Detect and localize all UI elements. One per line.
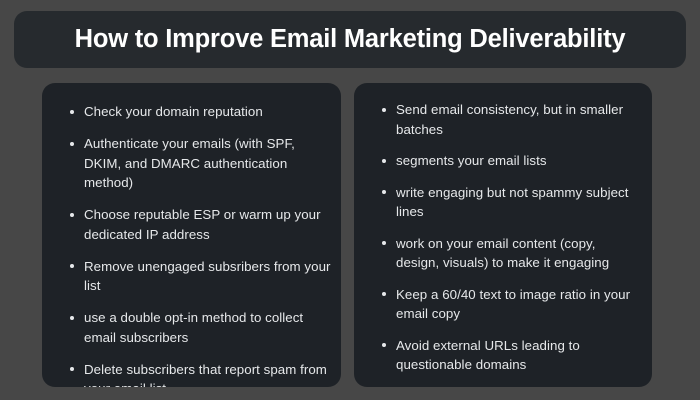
list-item-label: Remove unengaged subsribers from your li… xyxy=(84,259,331,294)
right-tips-list: Send email consistency, but in smaller b… xyxy=(382,100,642,387)
list-item-label: Authenticate your emails (with SPF, DKIM… xyxy=(84,136,295,190)
bullet-icon xyxy=(70,213,74,217)
list-item: segments your email lists xyxy=(382,151,642,171)
list-item: work on your email content (copy, design… xyxy=(382,234,642,273)
list-item-label: Send email consistency, but in smaller b… xyxy=(396,102,623,137)
bullet-icon xyxy=(70,316,74,320)
list-item-label: write engaging but not spammy subject li… xyxy=(396,185,628,220)
bullet-icon xyxy=(70,142,74,146)
bullet-icon xyxy=(70,264,74,268)
bullet-icon xyxy=(382,159,386,163)
bullet-icon xyxy=(382,292,386,296)
list-item: Delete subscribers that report spam from… xyxy=(70,360,331,388)
infographic-root: How to Improve Email Marketing Deliverab… xyxy=(0,0,700,400)
bullet-icon xyxy=(382,108,386,112)
list-item: Follow email compliance laws xyxy=(382,387,642,388)
list-item: Check your domain reputation xyxy=(70,102,331,122)
list-item-label: segments your email lists xyxy=(396,153,547,168)
bullet-icon xyxy=(382,343,386,347)
page-title: How to Improve Email Marketing Deliverab… xyxy=(75,25,626,53)
list-item-label: Choose reputable ESP or warm up your ded… xyxy=(84,207,321,242)
right-tips-card: Send email consistency, but in smaller b… xyxy=(354,83,652,387)
list-item-label: work on your email content (copy, design… xyxy=(396,236,609,271)
left-tips-card: Check your domain reputation Authenticat… xyxy=(42,83,341,387)
list-item: Remove unengaged subsribers from your li… xyxy=(70,257,331,296)
bullet-icon xyxy=(70,367,74,371)
list-item-label: Check your domain reputation xyxy=(84,104,263,119)
title-banner: How to Improve Email Marketing Deliverab… xyxy=(14,11,686,68)
list-item: Send email consistency, but in smaller b… xyxy=(382,100,642,139)
list-item: write engaging but not spammy subject li… xyxy=(382,183,642,222)
list-item-label: Delete subscribers that report spam from… xyxy=(84,362,327,388)
list-item: Authenticate your emails (with SPF, DKIM… xyxy=(70,134,331,193)
bullet-icon xyxy=(382,190,386,194)
list-item-label: use a double opt-in method to collect em… xyxy=(84,310,303,345)
columns-container: Check your domain reputation Authenticat… xyxy=(0,83,700,387)
list-item: use a double opt-in method to collect em… xyxy=(70,308,331,347)
list-item: Keep a 60/40 text to image ratio in your… xyxy=(382,285,642,324)
bullet-icon xyxy=(70,110,74,114)
list-item: Choose reputable ESP or warm up your ded… xyxy=(70,205,331,244)
list-item-label: Avoid external URLs leading to questiona… xyxy=(396,338,580,373)
list-item-label: Keep a 60/40 text to image ratio in your… xyxy=(396,287,630,322)
bullet-icon xyxy=(382,241,386,245)
list-item: Avoid external URLs leading to questiona… xyxy=(382,336,642,375)
left-tips-list: Check your domain reputation Authenticat… xyxy=(70,102,331,387)
